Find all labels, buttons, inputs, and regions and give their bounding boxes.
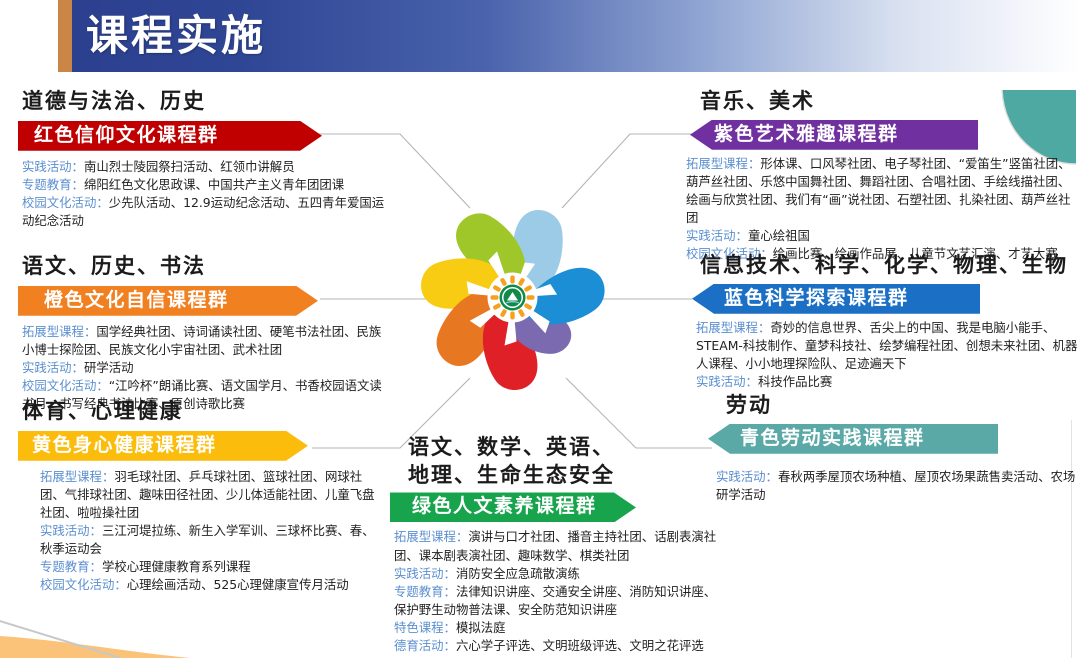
detail-line: 校园文化活动：心理绘画活动、525心理健康宣传月活动 — [40, 576, 378, 594]
subject-heading-green: 语文、数学、英语、 地理、生命生态安全 — [390, 434, 720, 489]
slide-canvas: 课程实施 — [0, 0, 1080, 658]
course-group-banner-red[interactable]: 红色信仰文化课程群 — [18, 121, 322, 151]
detail-line: 专题教育：法律知识讲座、交通安全讲座、消防知识讲座、保护野生动物普法课、安全防范… — [394, 583, 720, 619]
detail-line: 拓展型课程：羽毛球社团、乒乓球社团、篮球社团、网球社团、气排球社团、趣味田径社团… — [40, 468, 378, 522]
detail-list-green: 拓展型课程：演讲与口才社团、播音主持社团、话剧表演社团、课本剧表演社团、趣味数学… — [390, 528, 720, 655]
course-group-label-cyan: 青色劳动实践课程群 — [740, 428, 925, 449]
detail-text: 模拟法庭 — [456, 620, 506, 635]
detail-label: 实践活动： — [22, 360, 84, 375]
course-group-banner-cyan[interactable]: 青色劳动实践课程群 — [708, 424, 998, 454]
course-group-label-yellow: 黄色身心健康课程群 — [32, 435, 217, 456]
curriculum-flower-diagram — [395, 180, 630, 415]
detail-line: 实践活动：童心绘祖国 — [686, 227, 1080, 245]
detail-text: 绵阳红色文化思政课、中国共产主义青年团团课 — [84, 177, 344, 192]
detail-text: 六心学子评选、文明班级评选、文明之花评选 — [456, 638, 704, 653]
detail-label: 专题教育： — [394, 584, 456, 599]
detail-line: 实践活动：南山烈士陵园祭扫活动、红领巾讲解员 — [22, 158, 388, 176]
course-group-banner-yellow[interactable]: 黄色身心健康课程群 — [18, 431, 308, 461]
detail-label: 实践活动： — [696, 374, 758, 389]
detail-text: 童心绘祖国 — [748, 228, 810, 243]
detail-label: 拓展型课程： — [394, 529, 468, 544]
detail-text: 南山烈士陵园祭扫活动、红领巾讲解员 — [84, 159, 295, 174]
detail-line: 拓展型课程：演讲与口才社团、播音主持社团、话剧表演社团、课本剧表演社团、趣味数学… — [394, 528, 720, 564]
detail-line: 校园文化活动：少先队活动、12.9运动纪念活动、五四青年爱国运动纪念活动 — [22, 194, 388, 230]
subject-heading-purple: 音乐、美术 — [682, 88, 1080, 116]
detail-label: 实践活动： — [40, 523, 102, 538]
course-group-label-purple: 紫色艺术雅趣课程群 — [714, 124, 899, 145]
detail-text: 科技作品比赛 — [758, 374, 832, 389]
detail-line: 实践活动：研学活动 — [22, 359, 393, 377]
detail-text: 心理绘画活动、525心理健康宣传月活动 — [127, 577, 349, 592]
detail-label: 实践活动： — [716, 469, 778, 484]
block-orange: 语文、历史、书法橙色文化自信课程群拓展型课程：国学经典社团、诗词诵读社团、硬笔书… — [18, 253, 393, 413]
detail-label: 校园文化活动： — [40, 577, 127, 592]
detail-label: 拓展型课程： — [696, 320, 770, 335]
detail-label: 拓展型课程： — [22, 324, 96, 339]
subject-heading-yellow: 体育、心理健康 — [18, 398, 378, 426]
course-group-label-green: 绿色人文素养课程群 — [412, 496, 597, 517]
block-purple: 音乐、美术紫色艺术雅趣课程群拓展型课程：形体课、口风琴社团、电子琴社团、“爱笛生… — [682, 88, 1080, 263]
detail-label: 拓展型课程： — [686, 156, 760, 171]
corner-orange-decoration — [0, 618, 190, 658]
block-red: 道德与法治、历史红色信仰文化课程群实践活动：南山烈士陵园祭扫活动、红领巾讲解员专… — [18, 88, 388, 230]
detail-list-cyan: 实践活动：春秋两季屋顶农场种植、屋顶农场果蔬售卖活动、农场研学活动 — [700, 468, 1080, 504]
detail-label: 校园文化活动： — [22, 195, 109, 210]
school-emblem-icon — [500, 285, 526, 311]
detail-label: 实践活动： — [22, 159, 84, 174]
detail-list-purple: 拓展型课程：形体课、口风琴社团、电子琴社团、“爱笛生”竖笛社团、葫芦丝社团、乐悠… — [682, 155, 1080, 264]
detail-line: 德育活动：六心学子评选、文明班级评选、文明之花评选 — [394, 637, 720, 655]
detail-label: 德育活动： — [394, 638, 456, 653]
detail-line: 拓展型课程：奇妙的信息世界、舌尖上的中国、我是电脑小能手、STEAM-科技制作、… — [696, 319, 1080, 373]
course-group-banner-blue[interactable]: 蓝色科学探索课程群 — [692, 284, 980, 314]
subject-heading-orange: 语文、历史、书法 — [18, 253, 393, 281]
detail-label: 拓展型课程： — [40, 469, 114, 484]
detail-list-blue: 拓展型课程：奇妙的信息世界、舌尖上的中国、我是电脑小能手、STEAM-科技制作、… — [692, 319, 1080, 391]
header-accent-bar — [58, 0, 72, 72]
subject-heading-blue: 信息技术、科学、化学、物理、生物 — [692, 252, 1080, 280]
detail-text: 研学活动 — [84, 360, 134, 375]
detail-line: 专题教育：学校心理健康教育系列课程 — [40, 558, 378, 576]
subject-heading-cyan: 劳动 — [700, 392, 1080, 420]
block-cyan: 劳动青色劳动实践课程群实践活动：春秋两季屋顶农场种植、屋顶农场果蔬售卖活动、农场… — [700, 392, 1080, 504]
detail-line: 实践活动：三江河堤拉练、新生入学军训、三球杯比赛、春、秋季运动会 — [40, 522, 378, 558]
course-group-label-orange: 橙色文化自信课程群 — [44, 290, 229, 311]
subject-heading-red: 道德与法治、历史 — [18, 88, 388, 116]
course-group-banner-purple[interactable]: 紫色艺术雅趣课程群 — [690, 120, 978, 150]
detail-label: 特色课程： — [394, 620, 456, 635]
block-yellow: 体育、心理健康黄色身心健康课程群拓展型课程：羽毛球社团、乒乓球社团、篮球社团、网… — [18, 398, 378, 594]
detail-list-red: 实践活动：南山烈士陵园祭扫活动、红领巾讲解员专题教育：绵阳红色文化思政课、中国共… — [18, 158, 388, 230]
detail-label: 校园文化活动： — [22, 378, 109, 393]
detail-label: 实践活动： — [394, 566, 456, 581]
block-blue: 信息技术、科学、化学、物理、生物蓝色科学探索课程群拓展型课程：奇妙的信息世界、舌… — [692, 252, 1080, 391]
detail-line: 实践活动：春秋两季屋顶农场种植、屋顶农场果蔬售卖活动、农场研学活动 — [716, 468, 1080, 504]
detail-text: 学校心理健康教育系列课程 — [102, 559, 251, 574]
page-title: 课程实施 — [86, 2, 266, 70]
course-group-label-red: 红色信仰文化课程群 — [34, 125, 219, 146]
block-green: 语文、数学、英语、 地理、生命生态安全绿色人文素养课程群拓展型课程：演讲与口才社… — [390, 434, 720, 655]
detail-line: 拓展型课程：形体课、口风琴社团、电子琴社团、“爱笛生”竖笛社团、葫芦丝社团、乐悠… — [686, 155, 1080, 227]
course-group-banner-orange[interactable]: 橙色文化自信课程群 — [18, 286, 318, 316]
detail-line: 实践活动：消防安全应急疏散演练 — [394, 565, 720, 583]
detail-label: 专题教育： — [40, 559, 102, 574]
detail-list-yellow: 拓展型课程：羽毛球社团、乒乓球社团、篮球社团、网球社团、气排球社团、趣味田径社团… — [18, 468, 378, 595]
course-group-banner-green[interactable]: 绿色人文素养课程群 — [390, 492, 636, 522]
detail-line: 实践活动：科技作品比赛 — [696, 373, 1080, 391]
detail-label: 实践活动： — [686, 228, 748, 243]
detail-line: 专题教育：绵阳红色文化思政课、中国共产主义青年团团课 — [22, 176, 388, 194]
detail-line: 拓展型课程：国学经典社团、诗词诵读社团、硬笔书法社团、民族小博士探险团、民族文化… — [22, 323, 393, 359]
detail-text: 消防安全应急疏散演练 — [456, 566, 580, 581]
detail-line: 特色课程：模拟法庭 — [394, 619, 720, 637]
course-group-label-blue: 蓝色科学探索课程群 — [724, 288, 909, 309]
detail-label: 专题教育： — [22, 177, 84, 192]
